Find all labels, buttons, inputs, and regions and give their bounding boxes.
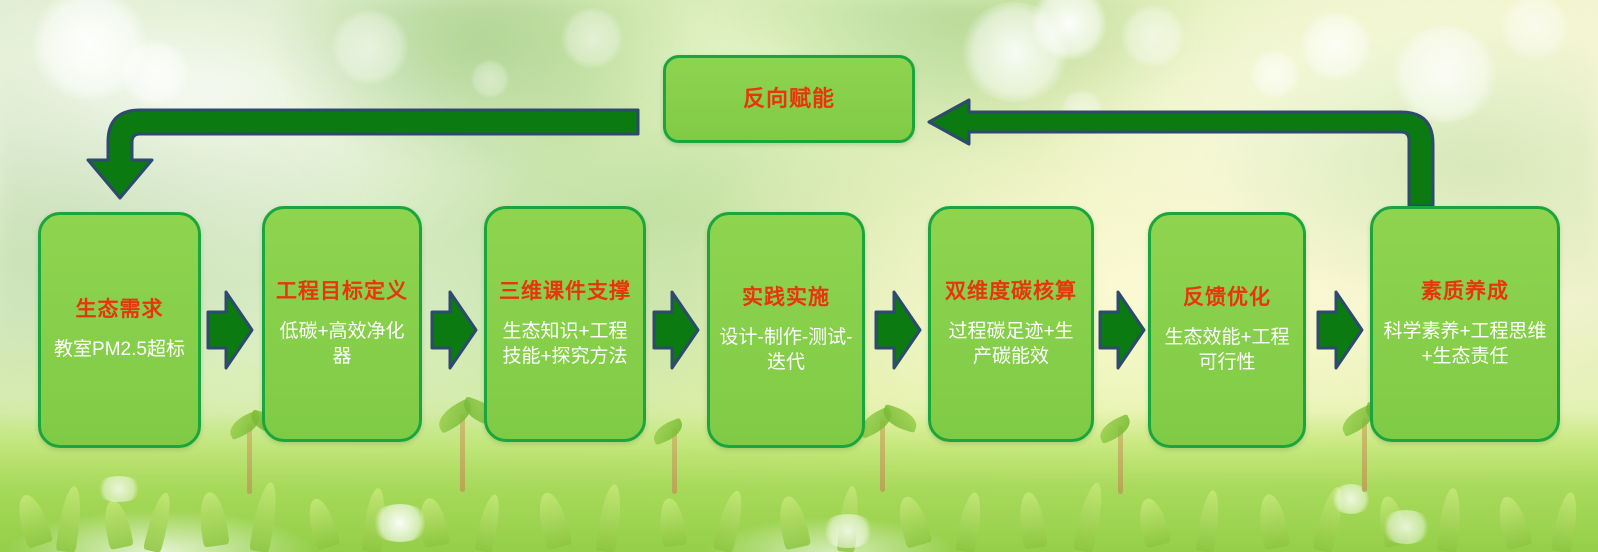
- bokeh-light: [330, 10, 410, 84]
- node-title: 素质养成: [1421, 279, 1509, 304]
- node-subtitle: 设计-制作-测试-迭代: [718, 326, 854, 375]
- feedback-arrow-left: [80, 98, 640, 206]
- node-title: 三维课件支撑: [499, 279, 631, 304]
- feedback-arrow-right: [925, 98, 1465, 206]
- node-subtitle: 生态知识+工程技能+探究方法: [495, 320, 635, 369]
- node-subtitle: 科学素养+工程思维+生态责任: [1381, 320, 1549, 369]
- node-subtitle: 低碳+高效净化器: [273, 320, 411, 369]
- node-3d-courseware[interactable]: 三维课件支撑 生态知识+工程技能+探究方法: [484, 206, 646, 442]
- node-title: 工程目标定义: [276, 279, 408, 304]
- bokeh-light: [470, 60, 510, 98]
- node-competency-development[interactable]: 素质养成 科学素养+工程思维+生态责任: [1370, 206, 1560, 442]
- node-engineering-goal[interactable]: 工程目标定义 低碳+高效净化器: [262, 206, 422, 442]
- node-practice-implementation[interactable]: 实践实施 设计-制作-测试-迭代: [707, 212, 865, 448]
- bokeh-light: [120, 40, 190, 106]
- node-dual-carbon-accounting[interactable]: 双维度碳核算 过程碳足迹+生产碳能效: [928, 206, 1094, 442]
- chevron-4-5: [872, 288, 924, 372]
- node-reverse-empowerment[interactable]: 反向赋能: [663, 55, 915, 143]
- chevron-5-6: [1096, 288, 1148, 372]
- chevron-1-2: [204, 288, 256, 372]
- node-title: 反向赋能: [743, 86, 835, 112]
- chevron-2-3: [428, 288, 480, 372]
- bokeh-light: [560, 8, 624, 68]
- chevron-6-7: [1314, 288, 1366, 372]
- node-subtitle: 过程碳足迹+生产碳能效: [939, 320, 1083, 369]
- diagram-canvas: 反向赋能 生态需求 教室PM2.5超标 工程目标定义 低碳+高效净化器 三维课件…: [0, 0, 1598, 552]
- node-subtitle: 教室PM2.5超标: [54, 338, 185, 362]
- node-ecological-demand[interactable]: 生态需求 教室PM2.5超标: [38, 212, 201, 448]
- bokeh-light: [1300, 12, 1372, 80]
- sprout-stem: [247, 424, 252, 494]
- node-title: 生态需求: [76, 297, 164, 322]
- node-title: 双维度碳核算: [945, 279, 1077, 304]
- node-title: 反馈优化: [1183, 285, 1271, 310]
- node-feedback-optimization[interactable]: 反馈优化 生态效能+工程可行性: [1148, 212, 1306, 448]
- sprout-stem: [1362, 418, 1367, 492]
- sprout-stem: [880, 420, 885, 492]
- node-title: 实践实施: [742, 285, 830, 310]
- node-subtitle: 生态效能+工程可行性: [1159, 326, 1295, 375]
- chevron-3-4: [650, 288, 702, 372]
- bokeh-light: [1250, 50, 1300, 98]
- bokeh-light: [1120, 5, 1186, 67]
- sprout-stem: [460, 414, 465, 492]
